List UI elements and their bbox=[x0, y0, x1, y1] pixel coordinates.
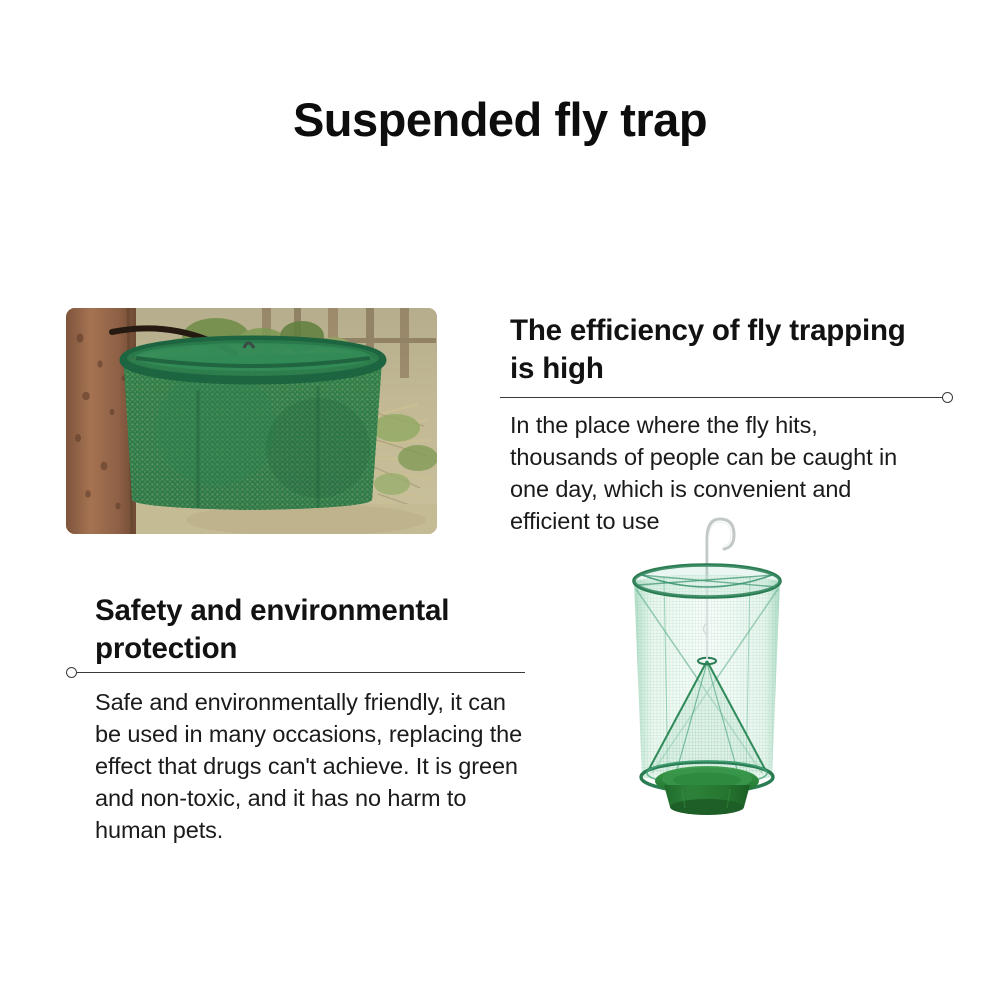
feature-heading-safety: Safety and environmental protection bbox=[95, 592, 515, 668]
infographic-page: Suspended fly trap bbox=[0, 0, 1000, 1000]
feature-divider-endpoint-dot-left bbox=[66, 667, 77, 678]
feature-body-safety: Safe and environmentally friendly, it ca… bbox=[95, 686, 525, 846]
feature-divider-efficiency bbox=[500, 397, 948, 398]
product-render bbox=[612, 505, 802, 825]
feature-divider-safety bbox=[75, 672, 525, 673]
feature-divider-endpoint-dot-right bbox=[942, 392, 953, 403]
page-title: Suspended fly trap bbox=[0, 93, 1000, 147]
bait-bowl-shape bbox=[655, 766, 759, 815]
product-photo bbox=[66, 308, 437, 534]
feature-heading-efficiency: The efficiency of fly trapping is high bbox=[510, 312, 910, 388]
